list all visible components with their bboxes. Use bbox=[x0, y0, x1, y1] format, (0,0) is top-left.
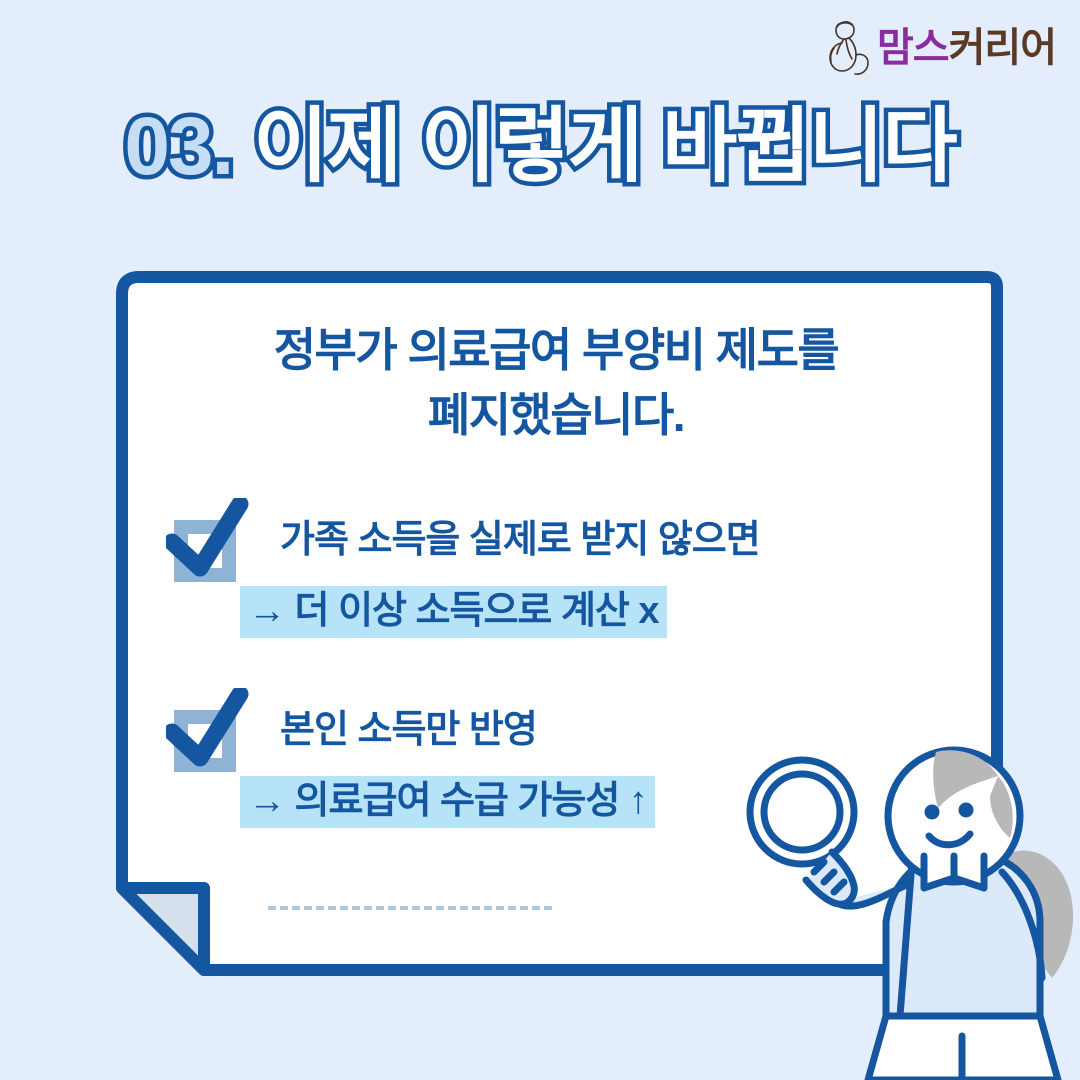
list-item: 가족 소득을 실제로 받지 않으면 → 더 이상 소득으로 계산 x bbox=[166, 498, 966, 638]
checkbox-checked-icon[interactable] bbox=[166, 688, 252, 778]
list-item-result: → 더 이상 소득으로 계산 x bbox=[240, 586, 966, 638]
brand-name-part2: 커리어 bbox=[949, 26, 1056, 70]
poster-canvas: 맘스커리어 03. 이제 이렇게 바뀝니다 정부가 의료급여 부양비 제도를 폐… bbox=[0, 0, 1080, 1080]
card-heading: 정부가 의료급여 부양비 제도를 폐지했습니다. bbox=[108, 318, 1004, 449]
list-item-statement: 가족 소득을 실제로 받지 않으면 bbox=[270, 498, 966, 562]
page-title-text: 이제 이렇게 바뀝니다 bbox=[253, 101, 956, 192]
page-title: 03. 이제 이렇게 바뀝니다 bbox=[0, 104, 1080, 190]
card-heading-line2: 폐지했습니다. bbox=[428, 389, 684, 441]
brand-name-part1: 맘스 bbox=[877, 26, 949, 70]
brand-logo: 맘스커리어 bbox=[825, 18, 1056, 78]
checkbox-checked-icon[interactable] bbox=[166, 498, 252, 588]
pregnant-woman-line-icon bbox=[825, 18, 871, 78]
woman-with-magnifier-illustration bbox=[740, 716, 1080, 1080]
page-title-number: 03. bbox=[124, 101, 232, 192]
card-heading-line1: 정부가 의료급여 부양비 제도를 bbox=[274, 318, 839, 383]
brand-name: 맘스커리어 bbox=[877, 28, 1056, 68]
empty-ruled-line bbox=[268, 906, 552, 910]
